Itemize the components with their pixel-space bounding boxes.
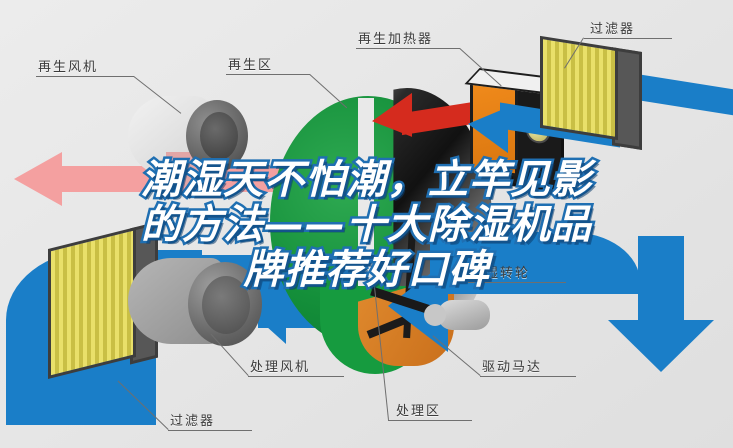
callout-label-process-zone: 处理区 [396,400,441,419]
callout-rule-drive-motor [480,376,576,377]
filter-top-face [540,36,618,140]
process-supply-down-arrow-head [608,320,714,372]
drive-motor-shaft-cap [424,304,446,326]
callout-rule-filter-bottom [168,430,252,431]
headline-line-2: 的方法——十大除湿机品 [0,203,733,248]
callout-label-process-fan: 处理风机 [250,356,310,375]
regeneration-fan-inner-hub [200,112,238,160]
callout-label-drive-motor: 驱动马达 [482,356,542,375]
callout-label-regen-fan: 再生风机 [38,56,98,75]
callout-rule-process-fan [248,376,344,377]
callout-rule-regen-heater [356,48,460,49]
callout-rule-regen-zone [226,74,310,75]
headline-line-3: 牌推荐好口碑 [0,248,733,293]
regeneration-intake-arrow-head [468,101,508,153]
callout-label-filter-top: 过滤器 [590,18,635,37]
headline-line-1: 潮湿天不怕潮，立竿见影 [0,158,733,203]
diagram-canvas: 再生风机 再生区 再生加热器 过滤器 除湿转轮 处理风机 驱动马达 处理区 [0,0,733,448]
regeneration-intake-arrow-body [640,74,733,115]
callout-rule-process-zone [388,420,472,421]
callout-rule-regen-fan [36,76,134,77]
callout-label-regen-zone: 再生区 [228,54,273,73]
headline-overlay: 潮湿天不怕潮，立竿见影 的方法——十大除湿机品 牌推荐好口碑 [0,158,733,293]
callout-label-regen-heater: 再生加热器 [358,28,433,47]
callout-rule-filter-top [584,38,672,39]
regeneration-heated-arrow-head [372,93,412,143]
callout-label-filter-bottom: 过滤器 [170,410,215,429]
filter-top [540,36,618,140]
